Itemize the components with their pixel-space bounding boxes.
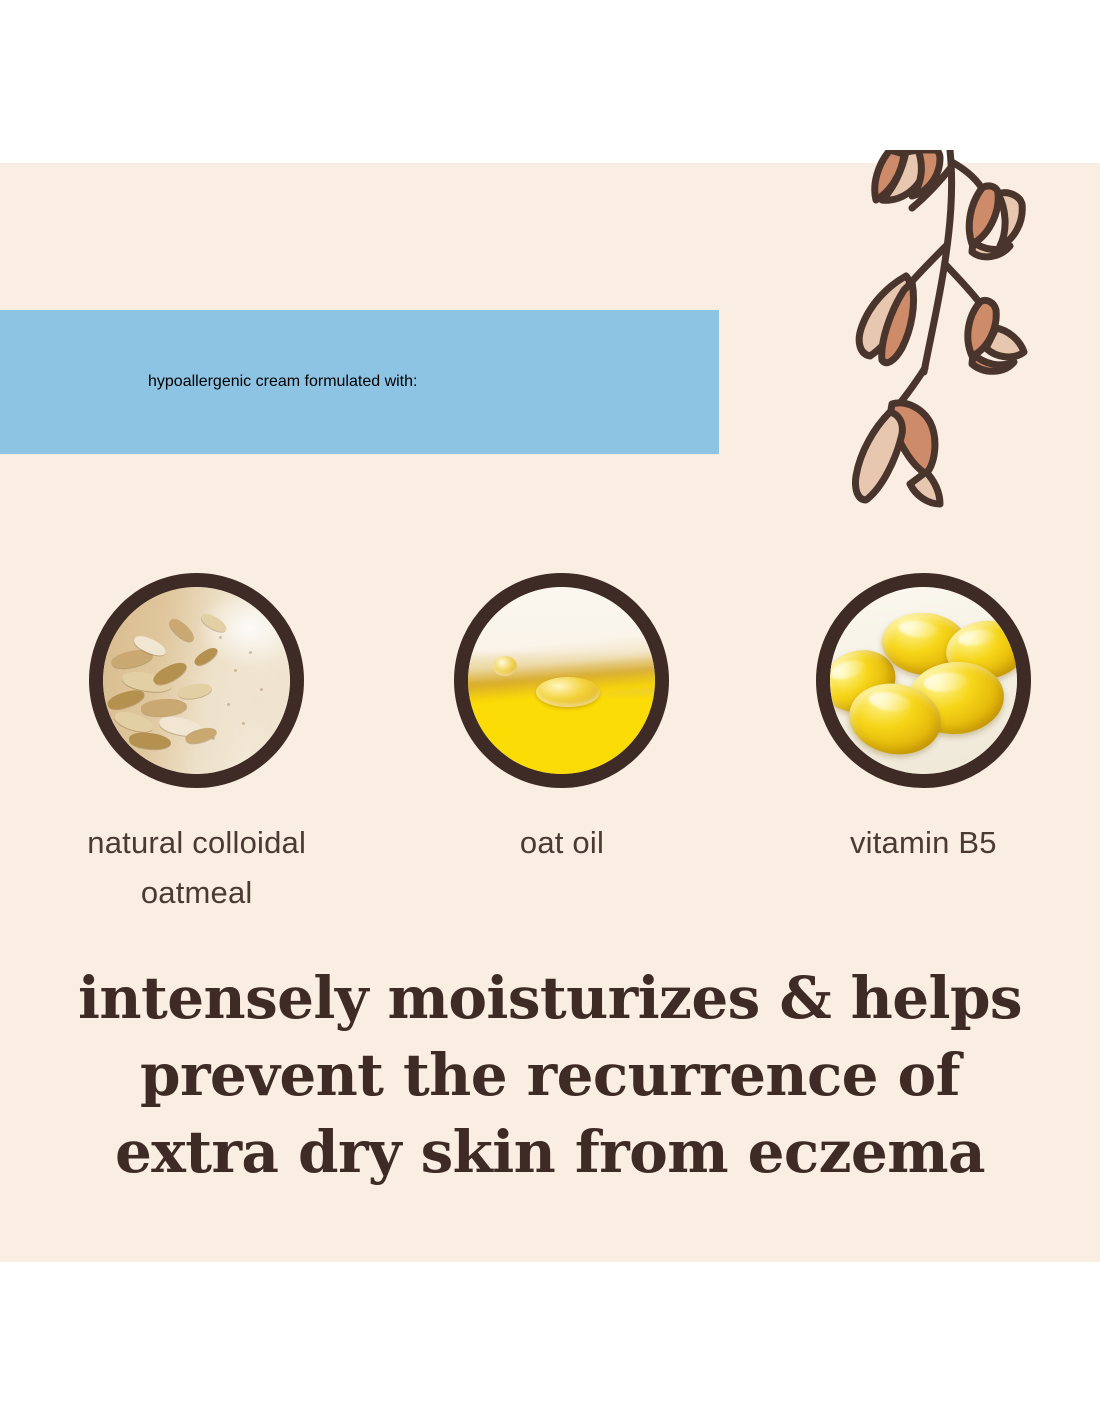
ingredient-natural-colloidal-oatmeal: natural colloidal oatmeal	[20, 573, 373, 917]
oat-oil-swatch-icon	[454, 573, 669, 788]
banner-title: hypoallergenic cream formulated with:	[148, 373, 417, 391]
ingredient-label: vitamin B5	[850, 818, 997, 868]
ingredient-label: natural colloidal oatmeal	[87, 818, 306, 917]
banner-hypoallergenic-cream: hypoallergenic cream formulated with:	[0, 310, 719, 454]
benefit-headline: intensely moisturizes & helps prevent th…	[0, 960, 1100, 1191]
ingredient-vitamin-b5: vitamin B5	[747, 573, 1100, 868]
ingredients-row: natural colloidal oatmeal oat oil	[0, 573, 1100, 917]
ingredient-label: oat oil	[520, 818, 604, 868]
product-benefit-panel: hypoallergenic cream formulated with:	[0, 0, 1100, 1422]
ingredient-oat-oil: oat oil	[385, 573, 738, 868]
oatmeal-swatch-icon	[89, 573, 304, 788]
vitamin-b5-capsules-swatch-icon	[816, 573, 1031, 788]
